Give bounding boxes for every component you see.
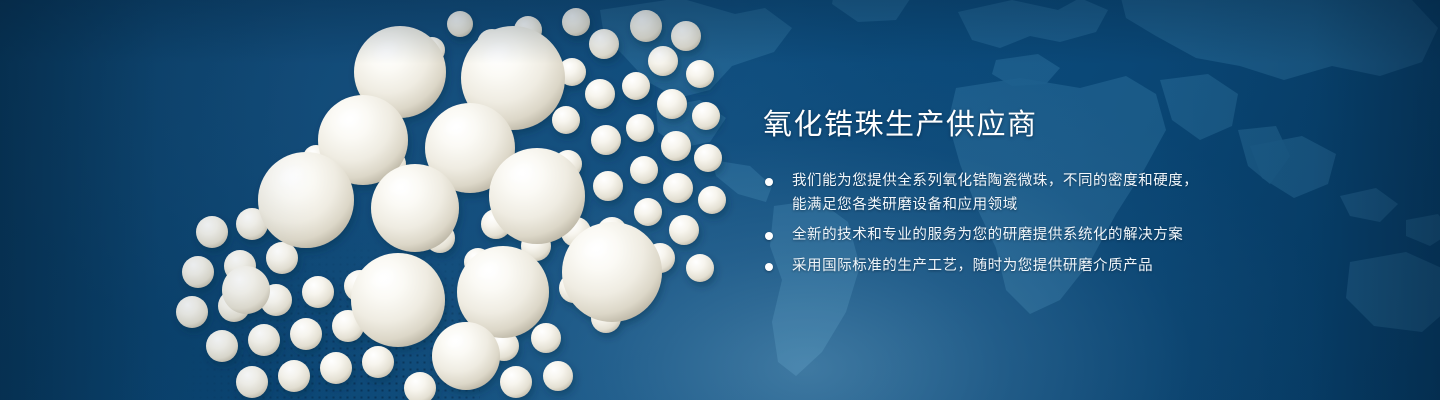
- bullet-item-1: 我们能为您提供全系列氧化锆陶瓷微珠，不同的密度和硬度， 能满足您各类研磨设备和应…: [763, 170, 1323, 217]
- banner-text-block: 氧化锆珠生产供应商 我们能为您提供全系列氧化锆陶瓷微珠，不同的密度和硬度， 能满…: [763, 108, 1323, 278]
- bullet-text-2-line1: 全新的技术和专业的服务为您的研磨提供系统化的解决方案: [792, 227, 1183, 243]
- bullet-item-3: 采用国际标准的生产工艺，随时为您提供研磨介质产品: [763, 255, 1323, 278]
- hero-banner: 氧化锆珠生产供应商 我们能为您提供全系列氧化锆陶瓷微珠，不同的密度和硬度， 能满…: [0, 0, 1440, 400]
- banner-bullet-list: 我们能为您提供全系列氧化锆陶瓷微珠，不同的密度和硬度， 能满足您各类研磨设备和应…: [763, 170, 1323, 278]
- bullet-dot-icon: [765, 263, 773, 271]
- bullet-dot-icon: [765, 178, 773, 186]
- banner-headline: 氧化锆珠生产供应商: [763, 108, 1323, 142]
- bullet-text-3-line1: 采用国际标准的生产工艺，随时为您提供研磨介质产品: [792, 258, 1153, 274]
- bullet-text-1-line1: 我们能为您提供全系列氧化锆陶瓷微珠，不同的密度和硬度，: [792, 173, 1198, 189]
- bullet-text-1-line2: 能满足您各类研磨设备和应用领域: [792, 194, 1323, 217]
- bullet-dot-icon: [765, 232, 773, 240]
- bullet-item-2: 全新的技术和专业的服务为您的研磨提供系统化的解决方案: [763, 224, 1323, 247]
